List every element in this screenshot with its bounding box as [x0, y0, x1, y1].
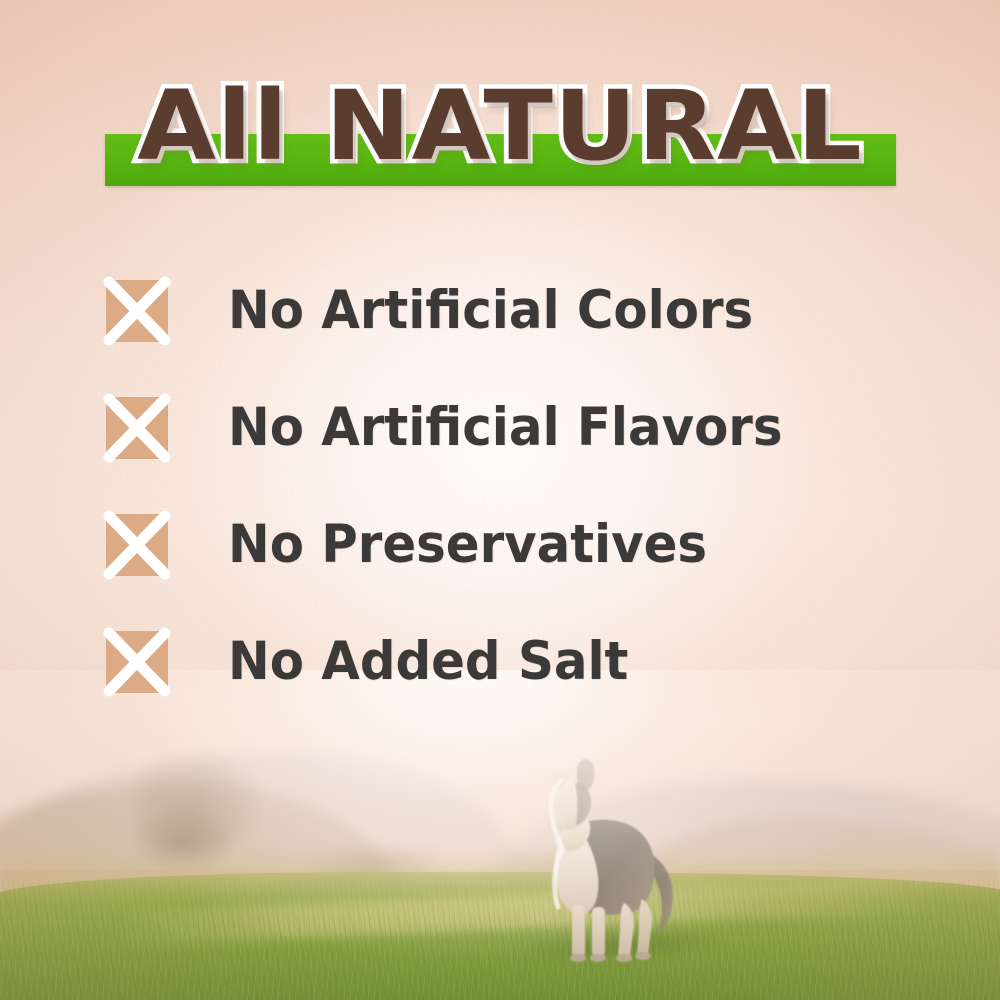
list-item-label: No Artificial Flavors: [228, 400, 783, 456]
list-item-label: No Preservatives: [228, 517, 707, 573]
list-item: No Artificial Flavors: [106, 369, 926, 486]
x-mark-icon: [106, 280, 168, 342]
list-item: No Artificial Colors: [106, 252, 926, 369]
x-mark-icon: [106, 514, 168, 576]
x-mark-icon: [106, 397, 168, 459]
list-item: No Added Salt: [106, 603, 926, 720]
feature-list: No Artificial Colors No Artificial Flavo…: [106, 252, 926, 720]
list-item-label: No Artificial Colors: [228, 283, 753, 339]
all-natural-feature-panel: All NATURAL No Artificial Colors No Arti…: [0, 0, 1000, 1000]
x-mark-icon: [106, 631, 168, 693]
list-item-label: No Added Salt: [228, 634, 628, 690]
page-title: All NATURAL: [0, 74, 1000, 178]
list-item: No Preservatives: [106, 486, 926, 603]
